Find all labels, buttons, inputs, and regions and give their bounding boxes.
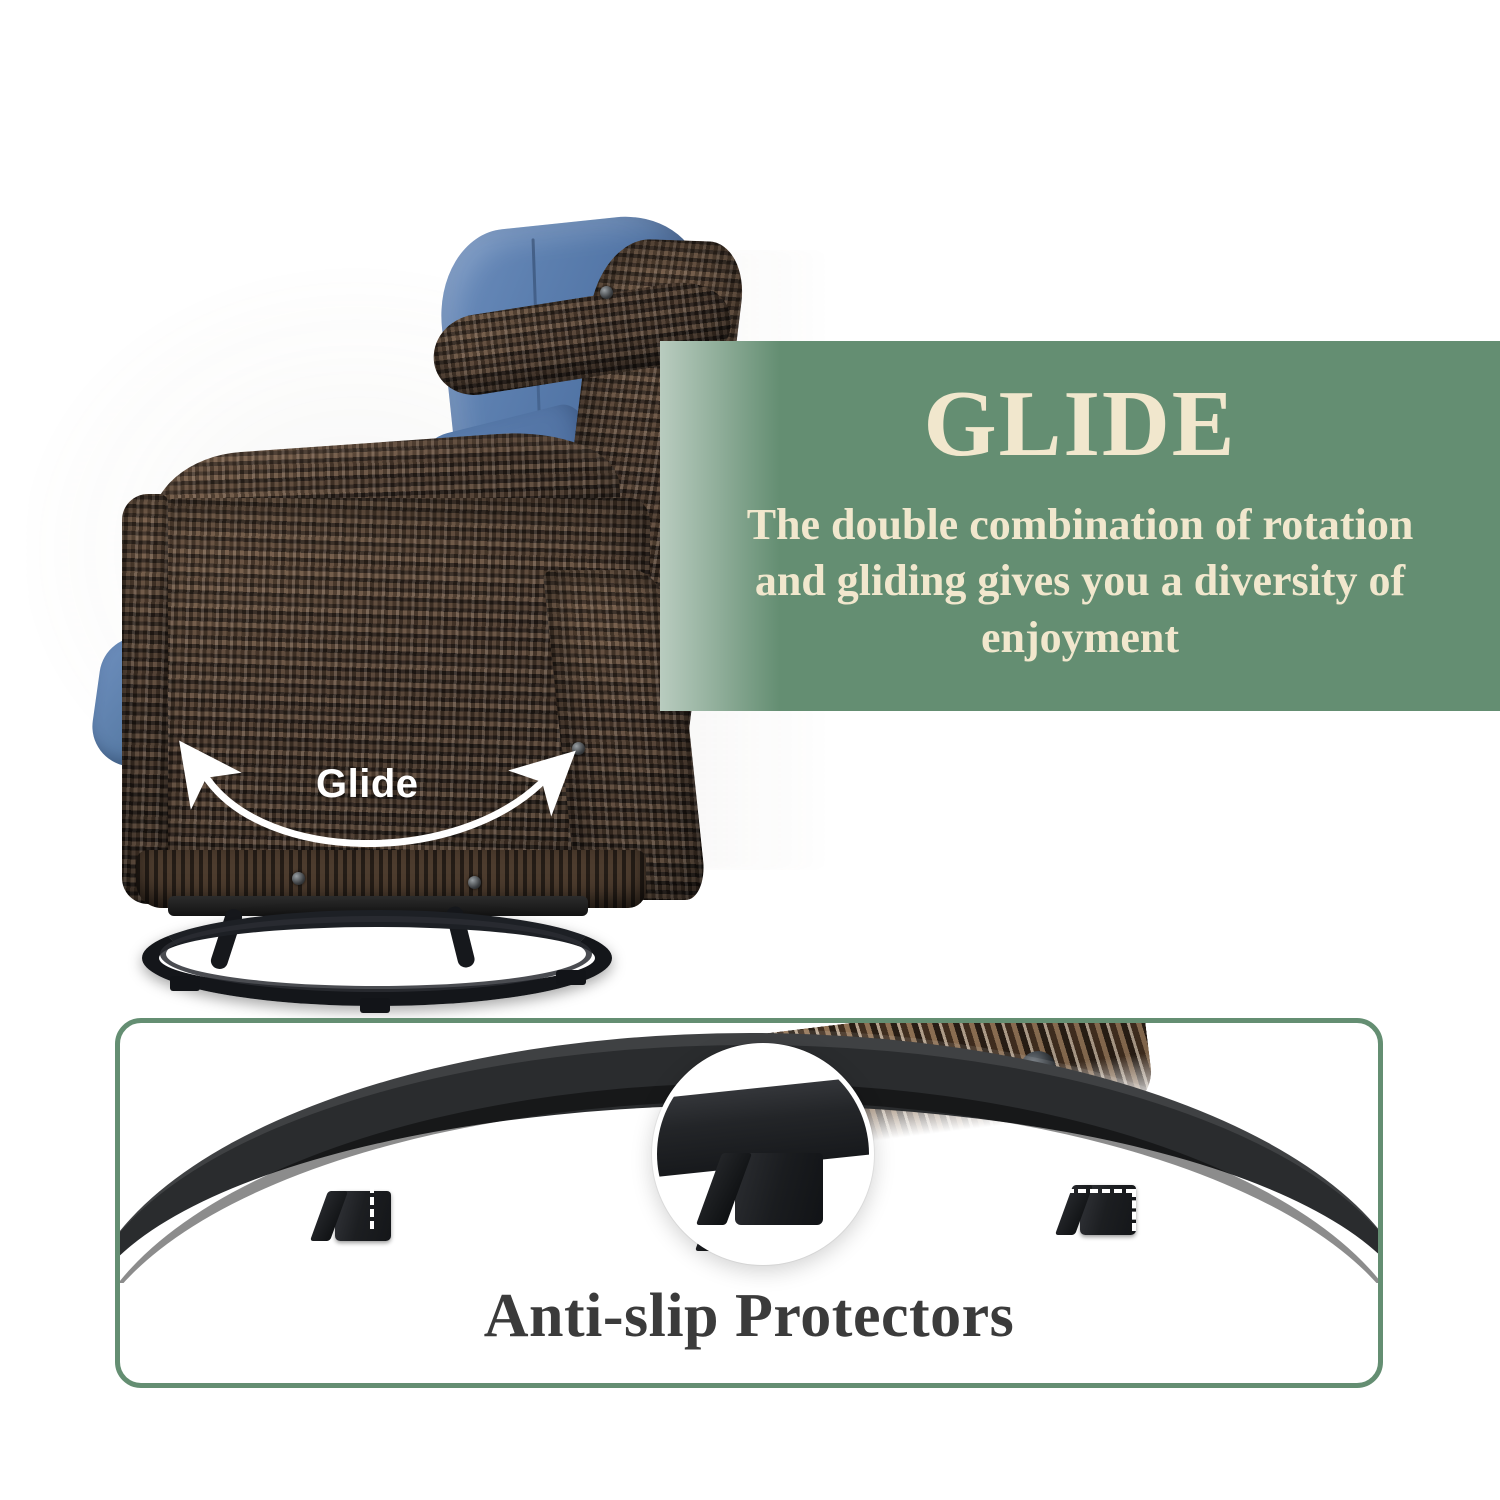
frame-bolt-top [600,286,613,299]
base-foot-center [360,998,390,1013]
chair-left-edge [122,494,168,904]
base-foot-right [556,970,586,985]
magnifier-callout [652,1043,874,1265]
measure-line-right [862,1189,1134,1193]
anti-slip-caption: Anti-slip Protectors [120,1281,1378,1352]
measure-tick-right [1132,1189,1136,1231]
swivel-base-ring-inner [160,916,592,992]
glide-feature-copy: GLIDE The double combination of rotation… [660,377,1500,666]
measure-tick-left [370,1185,374,1229]
frame-bolt-left [292,872,305,885]
base-foot-left [170,976,200,991]
measure-line-left [370,1185,700,1189]
frame-bolt-rear [572,742,585,755]
hero-product-photo: Glide [0,90,720,950]
glide-headline: GLIDE [700,377,1460,471]
anti-slip-foot-left [335,1191,391,1241]
magnified-anti-slip-foot [735,1153,823,1225]
glide-feature-panel: GLIDE The double combination of rotation… [660,341,1500,711]
frame-bolt-right [468,876,481,889]
glide-subcopy: The double combination of rotation and g… [700,497,1460,666]
product-marketing-image: Glide GLIDE The double combination of ro… [0,0,1500,1500]
